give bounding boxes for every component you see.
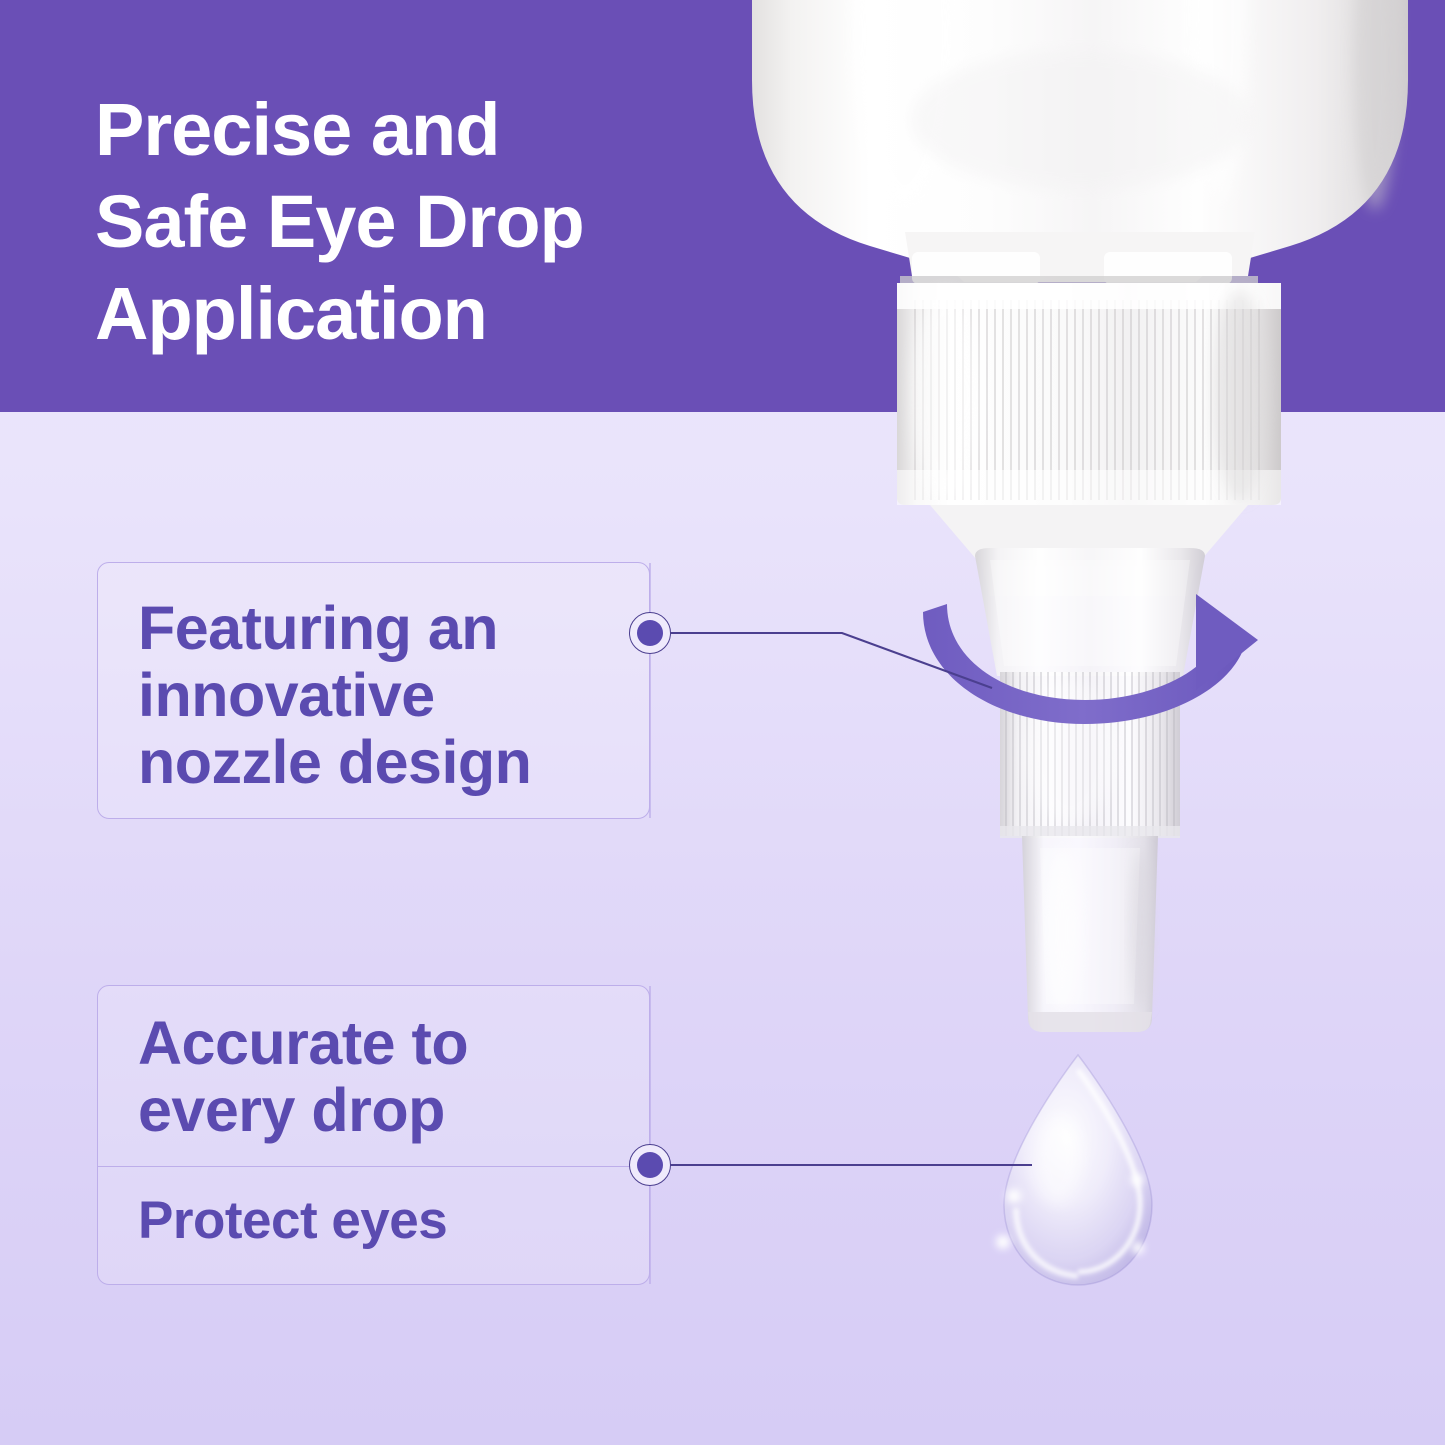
connector-dot-1 (629, 612, 671, 654)
connector-dot-2 (629, 1144, 671, 1186)
liquid-droplet (996, 1055, 1152, 1285)
callout-2-sublabel: Protect eyes (138, 1191, 638, 1251)
callout-1-label: Featuring an innovative nozzle design (138, 595, 638, 796)
infographic-root: Precise and Safe Eye Drop Application Fe… (0, 0, 1445, 1445)
callout-box-nozzle-design[interactable]: Featuring an innovative nozzle design (97, 562, 650, 819)
callout-2-divider (98, 1166, 649, 1167)
page-title: Precise and Safe Eye Drop Application (95, 84, 755, 360)
rotation-arrow (923, 594, 1258, 724)
callout-box-accuracy[interactable]: Accurate to every drop Protect eyes (97, 985, 650, 1285)
callout-2-label: Accurate to every drop (138, 1010, 638, 1144)
